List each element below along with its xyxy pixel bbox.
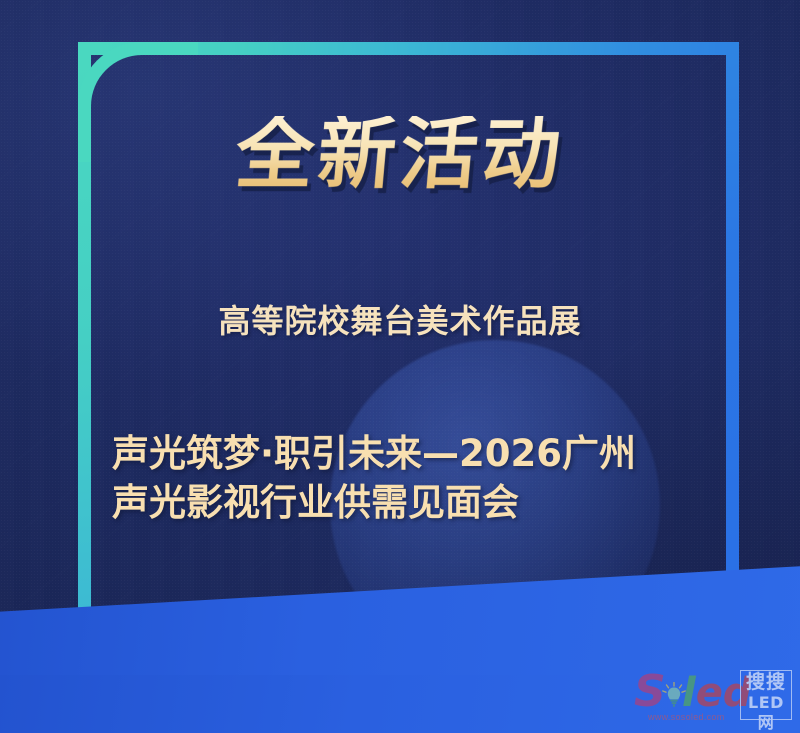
logo-badge: 搜搜 LED网 [740,670,792,720]
logo-badge-cn: 搜搜 [741,671,791,693]
promo-poster: 全新活动 高等院校舞台美术作品展 声光筑梦·职引未来—2026广州声光影视行业供… [0,0,800,733]
site-watermark-logo: S led [634,668,794,726]
logo-letter-l: l [682,670,696,716]
logo-wordmark: S led [634,668,738,718]
poster-subtitle: 高等院校舞台美术作品展 [0,296,800,342]
poster-headline: 声光筑梦·职引未来—2026广州声光影视行业供需见面会 [112,430,642,528]
logo-letter-e: e [696,670,723,716]
logo-url-text: www.sosoled.com [648,712,725,722]
logo-badge-en: LED网 [741,693,791,733]
page-title: 全新活动 [0,116,800,194]
poster-content: 全新活动 高等院校舞台美术作品展 声光筑梦·职引未来—2026广州声光影视行业供… [0,0,800,733]
